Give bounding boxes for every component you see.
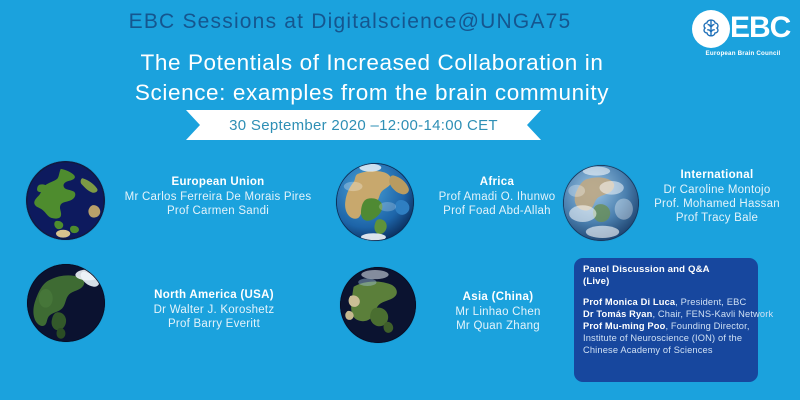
speaker-name: Prof Carmen Sandi bbox=[108, 204, 328, 218]
region-european-union-text: European Union Mr Carlos Ferreira De Mor… bbox=[108, 175, 328, 218]
panel-heading-line-2: (Live) bbox=[583, 276, 610, 287]
title-line-1: The Potentials of Increased Collaboratio… bbox=[141, 50, 604, 75]
panel-heading: Panel Discussion and Q&A (Live) bbox=[583, 264, 779, 289]
globe-africa-icon bbox=[336, 163, 414, 241]
panel-heading-line-1: Panel Discussion and Q&A bbox=[583, 264, 710, 275]
speaker-name: Prof Amadi O. Ihunwo bbox=[412, 190, 582, 204]
region-asia-china-text: Asia (China) Mr Linhao Chen Mr Quan Zhan… bbox=[418, 290, 578, 333]
region-name: International bbox=[634, 168, 800, 182]
speaker-name: Mr Quan Zhang bbox=[418, 319, 578, 333]
brain-icon bbox=[698, 16, 724, 42]
region-name: European Union bbox=[108, 175, 328, 189]
panelist-role: , President, EBC bbox=[675, 297, 746, 307]
globe-europe-icon bbox=[26, 161, 105, 240]
speaker-name: Mr Linhao Chen bbox=[418, 305, 578, 319]
page-title: The Potentials of Increased Collaboratio… bbox=[52, 48, 692, 108]
title-line-2: Science: examples from the brain communi… bbox=[52, 78, 692, 108]
panelist-name: Prof Mu-ming Poo bbox=[583, 321, 665, 331]
panelist-row: Prof Mu-ming Poo, Founding Director, Ins… bbox=[583, 320, 779, 356]
panel-discussion-content: Panel Discussion and Q&A (Live) Prof Mon… bbox=[583, 264, 779, 356]
globe-north-america-icon bbox=[27, 264, 105, 342]
panelist-row: Prof Monica Di Luca, President, EBC bbox=[583, 296, 779, 308]
poster-canvas: EBC Sessions at Digitalscience@UNGA75 EB… bbox=[0, 0, 800, 400]
speaker-name: Dr Caroline Montojo bbox=[634, 183, 800, 197]
globe-international-icon bbox=[563, 165, 639, 241]
logo-wordmark: EBC bbox=[730, 9, 790, 47]
region-africa-text: Africa Prof Amadi O. Ihunwo Prof Foad Ab… bbox=[412, 175, 582, 218]
speaker-name: Prof Foad Abd-Allah bbox=[412, 204, 582, 218]
logo-tagline: European Brain Council bbox=[693, 50, 793, 57]
speaker-name: Mr Carlos Ferreira De Morais Pires bbox=[108, 190, 328, 204]
globe-asia-icon bbox=[340, 267, 416, 343]
date-ribbon-label: 30 September 2020 –12:00-14:00 CET bbox=[186, 110, 541, 140]
speaker-name: Dr Walter J. Koroshetz bbox=[104, 303, 324, 317]
panelist-row: Dr Tomás Ryan, Chair, FENS-Kavli Network bbox=[583, 308, 779, 320]
panelist-name: Dr Tomás Ryan bbox=[583, 309, 652, 319]
speaker-name: Prof Barry Everitt bbox=[104, 317, 324, 331]
region-international-text: International Dr Caroline Montojo Prof. … bbox=[634, 168, 800, 226]
event-series-title: EBC Sessions at Digitalscience@UNGA75 bbox=[0, 10, 700, 34]
region-name: Asia (China) bbox=[418, 290, 578, 304]
region-name: Africa bbox=[412, 175, 582, 189]
panelist-role: , Chair, FENS-Kavli Network bbox=[652, 309, 773, 319]
region-north-america-text: North America (USA) Dr Walter J. Koroshe… bbox=[104, 288, 324, 331]
speaker-name: Prof Tracy Bale bbox=[634, 211, 800, 225]
region-name: North America (USA) bbox=[104, 288, 324, 302]
speaker-name: Prof. Mohamed Hassan bbox=[634, 197, 800, 211]
ebc-logo: EBC European Brain Council bbox=[690, 6, 794, 62]
panelist-name: Prof Monica Di Luca bbox=[583, 297, 675, 307]
